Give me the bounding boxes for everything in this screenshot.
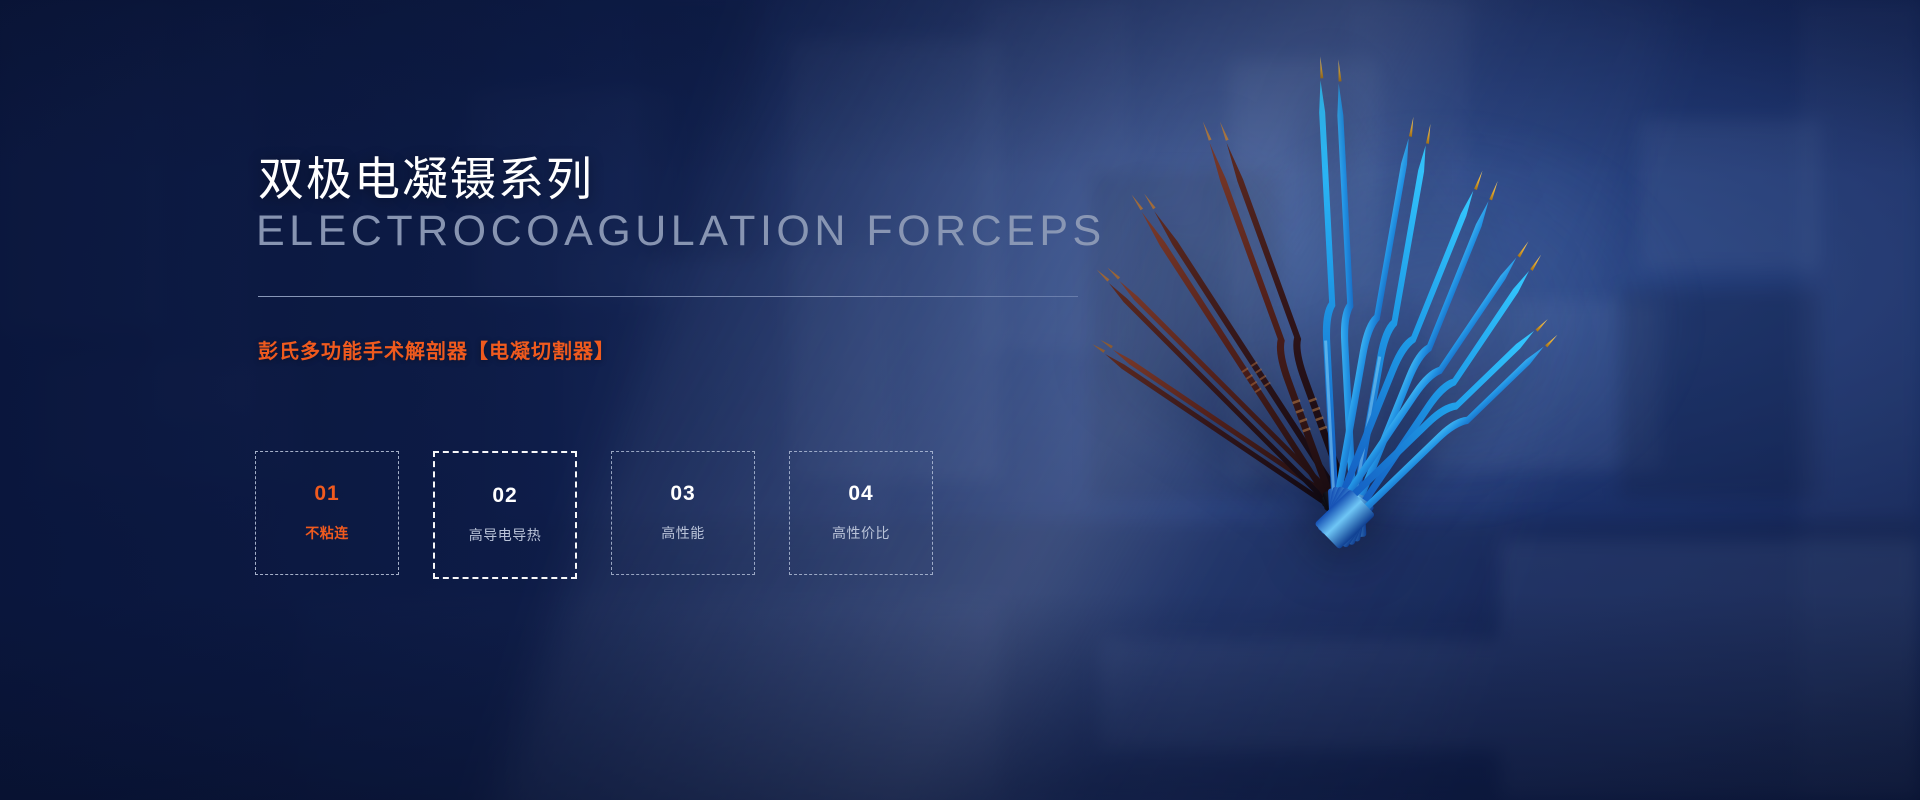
page-title: 双极电凝镊系列	[258, 143, 594, 209]
feature-label: 高导电导热	[469, 525, 542, 545]
feature-card-03[interactable]: 03 高性能	[611, 451, 755, 575]
product-banner: 双极电凝镊系列 ELECTROCOAGULATION FORCEPS 彭氏多功能…	[0, 0, 1920, 800]
title-divider	[258, 296, 1078, 297]
feature-card-01[interactable]: 01 不粘连	[255, 451, 399, 575]
product-tagline: 彭氏多功能手术解剖器【电凝切割器】	[258, 335, 615, 364]
feature-card-04[interactable]: 04 高性价比	[789, 451, 933, 575]
feature-number: 04	[848, 483, 873, 504]
feature-number: 01	[314, 483, 339, 504]
forceps-blue-group	[1305, 55, 1562, 549]
feature-number: 03	[670, 483, 695, 504]
page-subtitle-english: ELECTROCOAGULATION FORCEPS	[256, 207, 1106, 256]
feature-label: 不粘连	[305, 523, 349, 543]
banner-content: 双极电凝镊系列 ELECTROCOAGULATION FORCEPS 彭氏多功能…	[258, 0, 1158, 800]
feature-label: 高性价比	[832, 523, 890, 543]
feature-label: 高性能	[661, 523, 705, 543]
feature-card-02[interactable]: 02 高导电导热	[433, 451, 577, 579]
feature-list: 01 不粘连 02 高导电导热 03 高性能 04 高性价比	[255, 451, 967, 579]
feature-number: 02	[492, 485, 517, 506]
